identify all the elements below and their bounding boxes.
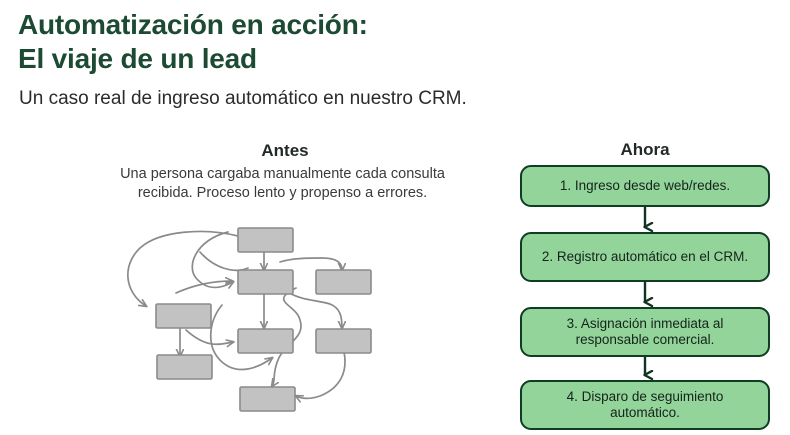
antes-box xyxy=(238,228,293,252)
antes-heading: Antes xyxy=(110,141,460,161)
ahora-step-4[interactable]: 4. Disparo de seguimiento automático. xyxy=(520,380,770,430)
ahora-heading: Ahora xyxy=(520,140,770,160)
page-title-line-1: Automatización en acción: xyxy=(18,8,758,42)
antes-connector-group xyxy=(128,232,345,399)
antes-box-group xyxy=(156,228,371,411)
page-title: Automatización en acción: El viaje de un… xyxy=(18,8,758,76)
antes-caption: Una persona cargaba manualmente cada con… xyxy=(105,165,460,203)
antes-box xyxy=(156,304,211,328)
ahora-step-3[interactable]: 3. Asignación inmediata al responsable c… xyxy=(520,307,770,357)
antes-box xyxy=(316,329,371,353)
ahora-flow: 1. Ingreso desde web/redes. 2. Registro … xyxy=(520,165,776,415)
antes-box xyxy=(238,270,293,294)
antes-box xyxy=(316,270,371,294)
antes-box xyxy=(240,387,295,411)
ahora-step-2[interactable]: 2. Registro automático en el CRM. xyxy=(520,232,770,282)
page-title-line-2: El viaje de un lead xyxy=(18,42,758,76)
antes-box xyxy=(238,329,293,353)
antes-box xyxy=(157,355,212,379)
page-subtitle: Un caso real de ingreso automático en nu… xyxy=(19,88,467,111)
ahora-step-1[interactable]: 1. Ingreso desde web/redes. xyxy=(520,165,770,207)
